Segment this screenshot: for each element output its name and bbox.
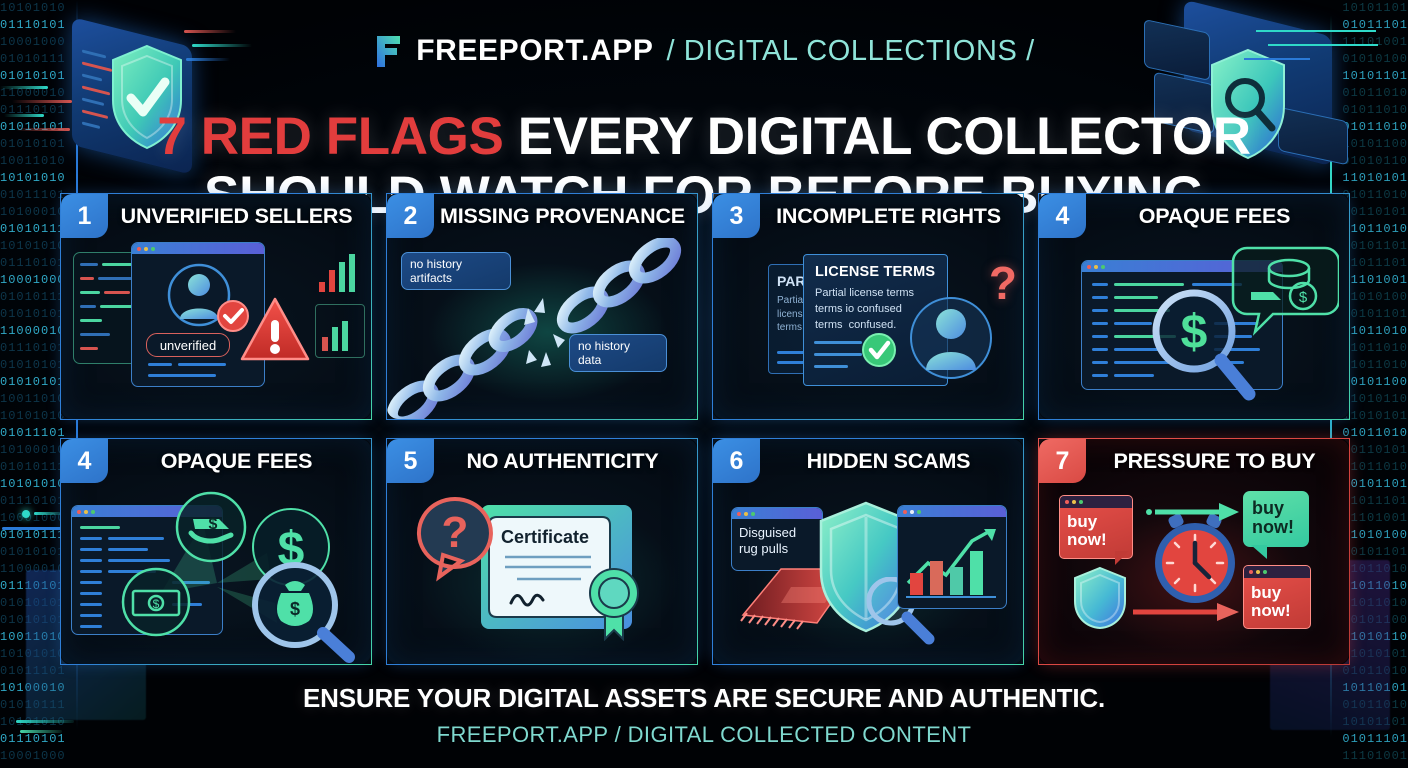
award-ribbon-icon — [583, 565, 645, 641]
money-bag-magnifier-icon: $ — [251, 561, 361, 663]
card-number-badge: 2 — [387, 194, 434, 238]
card-hidden-scams[interactable]: 6 HIDDEN SCAMS Disguised rug pulls — [712, 438, 1024, 665]
card-illustration: unverified — [61, 238, 371, 419]
shield-icon — [1071, 565, 1129, 631]
card-illustration: Disguised rug pulls — [713, 483, 1023, 664]
svg-text:$: $ — [209, 516, 218, 533]
card-title: MISSING PROVENANCE — [434, 194, 691, 238]
license-title: LICENSE TERMS — [815, 264, 936, 280]
card-opaque-fees-bottom[interactable]: 4 OPAQUE FEES — [60, 438, 372, 665]
card-unverified-sellers[interactable]: 1 UNVERIFIED SELLERS — [60, 193, 372, 420]
card-illustration: Certificate ? — [387, 483, 697, 664]
card-title: OPAQUE FEES — [108, 439, 365, 483]
warning-triangle-icon — [239, 296, 311, 364]
svg-text:$: $ — [290, 599, 300, 619]
brand-subtitle: / DIGITAL COLLECTIONS / — [666, 35, 1034, 68]
card-number-badge: 7 — [1039, 439, 1086, 483]
user-avatar-icon — [909, 286, 993, 388]
title-highlight: 7 RED FLAGS — [157, 107, 503, 166]
card-number-badge: 5 — [387, 439, 434, 483]
bar-chart-trend-icon — [898, 517, 1006, 607]
callout-line1: no history — [578, 339, 630, 353]
speech-tail-1 — [1115, 551, 1129, 565]
cards-grid: 1 UNVERIFIED SELLERS — [60, 193, 1350, 665]
buy-now-text-2: buy now! — [1243, 491, 1309, 545]
card-title: INCOMPLETE RIGHTS — [760, 194, 1017, 238]
card-number-badge: 3 — [713, 194, 760, 238]
buy-now-window-1: buy now! — [1059, 495, 1133, 559]
card-title: UNVERIFIED SELLERS — [108, 194, 365, 238]
card-missing-provenance[interactable]: 2 MISSING PROVENANCE — [386, 193, 698, 420]
buy-now-window-3: buy now! — [1243, 565, 1311, 629]
bar-chart-icon — [317, 248, 365, 298]
card-number-badge: 1 — [61, 194, 108, 238]
unverified-badge: unverified — [146, 333, 230, 357]
callout-line1: no history — [410, 257, 462, 271]
alarm-clock-icon — [1149, 511, 1241, 609]
card-title: PRESSURE TO BUY — [1086, 439, 1343, 483]
callout-line2: data — [578, 353, 601, 367]
card-number-badge: 4 — [61, 439, 108, 483]
certificate-title: Certificate — [501, 527, 589, 547]
infographic-root: 1010101001110101100010000101011101010101… — [0, 0, 1408, 768]
callout-no-history-artifacts: no historyartifacts — [401, 252, 511, 290]
buy-now-text-1: buy now! — [1060, 508, 1132, 554]
question-mark-icon: ? — [989, 260, 1017, 306]
card-illustration: $ $ $ $ — [61, 483, 371, 664]
svg-text:$: $ — [1181, 306, 1208, 359]
card-title: NO AUTHENTICITY — [434, 439, 691, 483]
footer-brand: FREEPORT.APP / DIGITAL COLLECTED CONTENT — [0, 722, 1408, 748]
card-opaque-fees-top[interactable]: 4 OPAQUE FEES — [1038, 193, 1350, 420]
card-illustration: buy now! buy now! buy now! — [1039, 483, 1349, 664]
card-title: HIDDEN SCAMS — [760, 439, 1017, 483]
svg-text:$: $ — [153, 597, 160, 611]
footer-tagline: ENSURE YOUR DIGITAL ASSETS ARE SECURE AN… — [0, 683, 1408, 714]
money-hand-icon: $ — [173, 489, 249, 565]
callout-no-history-data: no historydata — [569, 334, 667, 372]
banknote-icon: $ — [119, 565, 193, 639]
arrow-right-icon — [1131, 601, 1241, 623]
freeport-f-logo-icon — [373, 34, 403, 68]
question-speech-bubble-icon: ? — [409, 493, 501, 585]
brand-bar: FREEPORT.APP / DIGITAL COLLECTIONS / — [0, 30, 1408, 72]
arrow-right-icon — [1143, 501, 1241, 523]
card-title: OPAQUE FEES — [1086, 194, 1343, 238]
card-incomplete-rights[interactable]: 3 INCOMPLETE RIGHTS PAR Partia licens te… — [712, 193, 1024, 420]
card-number-badge: 6 — [713, 439, 760, 483]
card-pressure-to-buy[interactable]: 7 PRESSURE TO BUY buy now! buy now! — [1038, 438, 1350, 665]
card-illustration: PAR Partia licens terms LICENSE TERMS Pa… — [713, 238, 1023, 419]
callout-line2: artifacts — [410, 271, 452, 285]
card-illustration: no historyartifacts no historydata — [387, 238, 697, 419]
title-line1-rest: EVERY DIGITAL COLLECTOR — [503, 107, 1250, 166]
brand-name: FREEPORT.APP — [416, 34, 653, 68]
bar-chart-small-icon — [315, 304, 365, 358]
coin-stack-speech-bubble-icon: $ — [1227, 242, 1339, 342]
svg-text:$: $ — [1299, 289, 1308, 306]
buy-now-text-3: buy now! — [1244, 578, 1310, 626]
card-number-badge: 4 — [1039, 194, 1086, 238]
speech-tail-2 — [1251, 545, 1267, 559]
card-illustration: $ $ — [1039, 238, 1349, 419]
buy-now-bubble-2: buy now! — [1243, 491, 1309, 547]
card-no-authenticity[interactable]: 5 NO AUTHENTICITY Certificate — [386, 438, 698, 665]
green-check-icon — [861, 332, 897, 368]
svg-text:?: ? — [442, 508, 469, 557]
